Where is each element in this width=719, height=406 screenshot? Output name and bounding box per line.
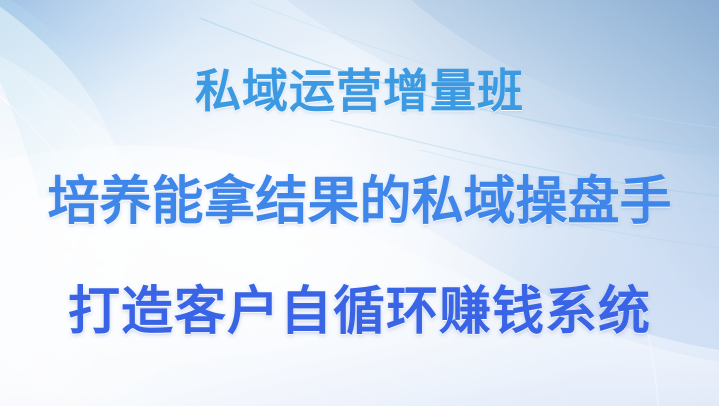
background-highlight-bottom-left bbox=[0, 0, 719, 406]
headline-line-2: 培养能拿结果的私域操盘手 bbox=[0, 173, 719, 231]
headline-block: 私域运营增量班 培养能拿结果的私域操盘手 打造客户自循环赚钱系统 bbox=[0, 0, 719, 406]
background-tint-top-right bbox=[0, 0, 719, 406]
background-tint-top-left bbox=[0, 0, 719, 406]
headline-line-3: 打造客户自循环赚钱系统 bbox=[0, 283, 719, 341]
background-highlight-center bbox=[0, 0, 719, 406]
promo-poster: 私域运营增量班 培养能拿结果的私域操盘手 打造客户自循环赚钱系统 bbox=[0, 0, 719, 406]
background-tint-bottom bbox=[0, 0, 719, 406]
background-wave-pattern bbox=[0, 0, 719, 406]
background-vignette bbox=[0, 0, 719, 406]
headline-line-1: 私域运营增量班 bbox=[0, 63, 719, 119]
